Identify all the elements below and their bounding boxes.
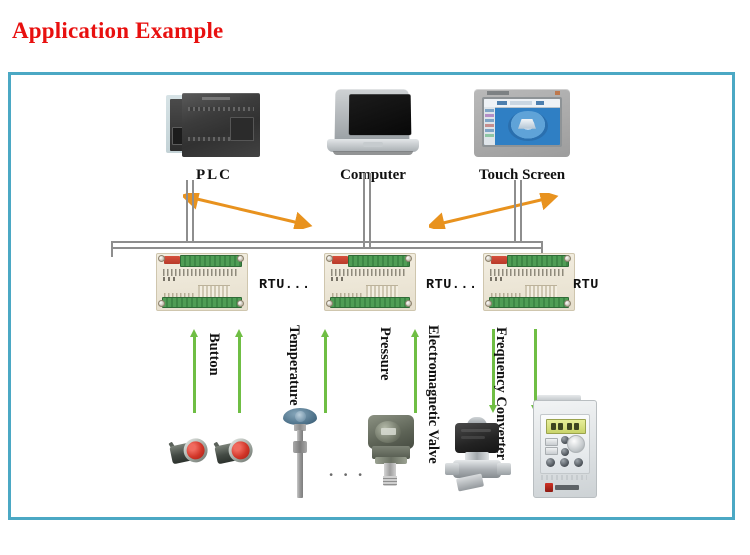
hmi-brand-logo xyxy=(487,91,509,95)
pressure-transmitter-thread xyxy=(383,476,397,486)
rtu-3-terminal-bottom xyxy=(489,297,569,308)
vfd-knob-stop[interactable] xyxy=(560,458,569,467)
rtu-1-indicator-leds xyxy=(163,277,175,281)
vfd-potentiometer[interactable] xyxy=(567,435,585,453)
label-rtu-1: RTU... xyxy=(259,278,311,293)
rtu-3-terminal-top xyxy=(507,255,569,267)
label-plc: PLC xyxy=(161,167,267,184)
device-temperature-sensor[interactable] xyxy=(283,408,319,500)
rtu-1-screw-bl xyxy=(158,300,165,307)
rtu-1-terminal-top xyxy=(180,255,242,267)
solenoid-valve-coil xyxy=(455,423,499,453)
rtu-2-power-terminal xyxy=(332,256,348,264)
temperature-sensor-cover xyxy=(295,411,306,422)
vfd-brand-logo xyxy=(545,483,579,492)
device-push-button-2[interactable] xyxy=(213,436,252,470)
plc-expansion-port xyxy=(230,117,254,141)
device-touch-screen[interactable] xyxy=(474,89,570,157)
signal-arrow-button-2 xyxy=(235,329,244,413)
rtu-1-status-leds xyxy=(163,269,237,276)
solenoid-valve-port-outlet xyxy=(497,463,511,475)
page-title: Application Example xyxy=(12,18,223,44)
bus-line-lower xyxy=(111,247,541,249)
bus-drop-rtu1-a xyxy=(186,180,188,241)
laptop-screen xyxy=(349,94,412,135)
rtu-2-screw-br xyxy=(405,300,412,307)
hmi-display-toolbar xyxy=(484,99,560,108)
bus-drop-rtu1-b xyxy=(192,180,194,241)
rtu-3-screw-tr xyxy=(564,255,571,262)
laptop-lid xyxy=(335,89,410,141)
rtu-2-status-leds xyxy=(331,269,405,276)
rtu-2-screw-bl xyxy=(326,300,333,307)
vfd-button-mode[interactable] xyxy=(545,438,558,446)
laptop-touchpad xyxy=(363,142,383,147)
pressure-transmitter-display xyxy=(381,428,396,435)
plc-brand-text xyxy=(202,97,230,100)
vfd-knob-enter[interactable] xyxy=(574,458,583,467)
computer-drop-b xyxy=(369,173,371,249)
rtu-2-terminal-top xyxy=(348,255,410,267)
diagram-stage: PLC Computer xyxy=(11,75,732,517)
bus-drop-rtu3-a xyxy=(514,180,516,241)
rtu-3-screw-br xyxy=(564,300,571,307)
label-computer: Computer xyxy=(320,167,426,184)
device-rtu-3[interactable] xyxy=(483,253,573,309)
temperature-sensor-flange xyxy=(293,441,307,453)
field-devices-ellipsis: . . . xyxy=(329,461,365,481)
rtu-3-screw-bl xyxy=(485,300,492,307)
device-frequency-converter[interactable] xyxy=(533,400,597,498)
label-temperature: Temperature xyxy=(285,325,302,406)
label-pressure: Pressure xyxy=(376,327,393,380)
rtu-1-screw-tl xyxy=(158,255,165,262)
vfd-lcd-display xyxy=(546,419,586,434)
link-arrow-plc-to-bus xyxy=(183,193,313,229)
hmi-case xyxy=(474,89,570,157)
vfd-keypad-panel[interactable] xyxy=(540,414,590,474)
rtu-1-power-terminal xyxy=(164,256,180,264)
rtu-3-power-terminal xyxy=(491,256,507,264)
computer-drop-a xyxy=(363,173,365,249)
label-electromagnetic-valve: Electromagnetic Valve xyxy=(424,325,441,464)
laptop-foot xyxy=(333,151,413,155)
device-plc[interactable] xyxy=(166,93,262,159)
pressure-transmitter-neck xyxy=(384,463,396,477)
rtu-2-terminal-bottom xyxy=(330,297,410,308)
label-touch-screen: Touch Screen xyxy=(463,167,581,184)
bus-left-end xyxy=(111,241,113,257)
rtu-2-screw-tr xyxy=(405,255,412,262)
rtu-2-indicator-leds xyxy=(331,277,343,281)
device-rtu-1[interactable] xyxy=(156,253,246,309)
vfd-ventilation-slots xyxy=(541,475,587,480)
plc-body xyxy=(182,93,260,157)
device-pressure-transmitter[interactable] xyxy=(366,415,418,490)
signal-arrow-button-1 xyxy=(190,329,199,413)
hmi-power-led xyxy=(555,91,560,95)
vfd-button-set[interactable] xyxy=(545,447,558,455)
device-computer[interactable] xyxy=(327,89,419,157)
rtu-2-screw-tl xyxy=(326,255,333,262)
device-rtu-2[interactable] xyxy=(324,253,414,309)
device-electromagnetic-valve[interactable] xyxy=(451,417,505,493)
link-arrow-touch-screen-to-bus xyxy=(429,193,559,229)
rtu-1-screw-br xyxy=(237,300,244,307)
diagram-frame: PLC Computer xyxy=(8,72,735,520)
device-push-button-1[interactable] xyxy=(168,436,207,470)
label-rtu-2: RTU... xyxy=(426,278,478,293)
hmi-display-sidebar xyxy=(484,107,495,145)
signal-arrow-pressure xyxy=(411,329,420,413)
rtu-1-terminal-bottom xyxy=(162,297,242,308)
rtu-3-screw-tl xyxy=(485,255,492,262)
rtu-3-status-leds xyxy=(490,269,564,276)
plc-terminal-strip-top xyxy=(188,107,254,111)
solenoid-valve-port-inlet xyxy=(445,463,459,475)
bus-drop-rtu3-b xyxy=(520,180,522,241)
label-rtu-3: RTU xyxy=(573,278,599,293)
bus-line-upper xyxy=(111,241,541,243)
label-button: Button xyxy=(205,333,222,376)
rtu-3-indicator-leds xyxy=(490,277,502,281)
vfd-knob-run[interactable] xyxy=(546,458,555,467)
rtu-1-screw-tr xyxy=(237,255,244,262)
hmi-display[interactable] xyxy=(484,99,560,145)
signal-arrow-temperature xyxy=(321,329,330,413)
